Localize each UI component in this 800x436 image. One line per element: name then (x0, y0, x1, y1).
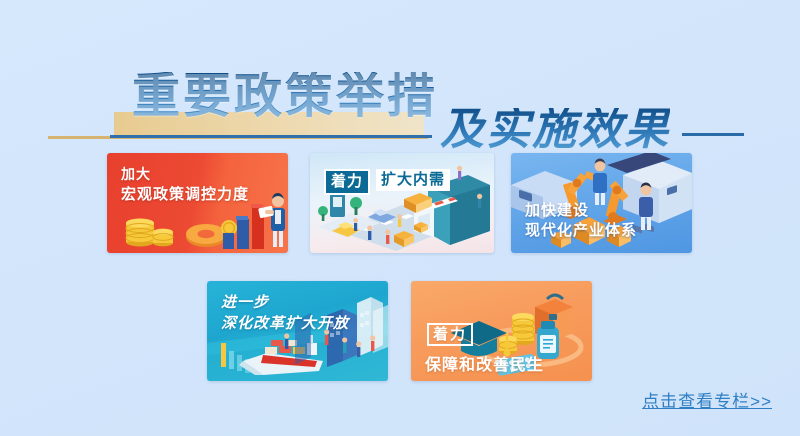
card-macro-policy[interactable]: 加大 宏观政策调控力度 (107, 153, 288, 253)
card-modern-industry-line2: 现代化产业体系 (525, 222, 637, 240)
card-deepen-reform[interactable]: 进一步 深化改革扩大开放 (207, 281, 388, 381)
card-expand-demand-line2: 扩大内需 (376, 169, 450, 191)
card-deepen-reform-line2: 深化改革扩大开放 (221, 315, 349, 333)
card-modern-industry-line1: 加快建设 (525, 202, 637, 220)
city-street-shop-delivery-illustration (310, 153, 494, 253)
card-modern-industry-text: 加快建设 现代化产业体系 (525, 202, 637, 240)
card-deepen-reform-line1: 进一步 (221, 294, 349, 312)
card-expand-demand-tag: 着力 (324, 169, 370, 195)
card-deepen-reform-text: 进一步 深化改革扩大开放 (221, 294, 349, 332)
card-modern-industry[interactable]: 加快建设 现代化产业体系 (511, 153, 692, 253)
card-expand-demand[interactable]: 着力 扩大内需 (310, 153, 494, 253)
card-macro-policy-text: 加大 宏观政策调控力度 (121, 166, 249, 203)
page-subtitle: 及实施效果 (440, 108, 670, 152)
card-improve-livelihood-line2: 保障和改善民生 (425, 351, 544, 375)
title-blue-rule-right (682, 133, 744, 136)
card-improve-livelihood-tag: 着力 (427, 323, 473, 346)
title-blue-underline (110, 135, 432, 138)
card-improve-livelihood[interactable]: 着力 保障和改善民生 (411, 281, 592, 381)
card-macro-policy-line2: 宏观政策调控力度 (121, 186, 249, 204)
view-column-link[interactable]: 点击查看专栏>> (642, 387, 772, 412)
policy-measures-banner: 重要政策举措 及实施效果 (0, 0, 800, 436)
banner-title-block: 重要政策举措 及实施效果 (0, 36, 800, 136)
page-title: 重要政策举措 (132, 72, 438, 120)
card-macro-policy-line1: 加大 (121, 166, 249, 183)
